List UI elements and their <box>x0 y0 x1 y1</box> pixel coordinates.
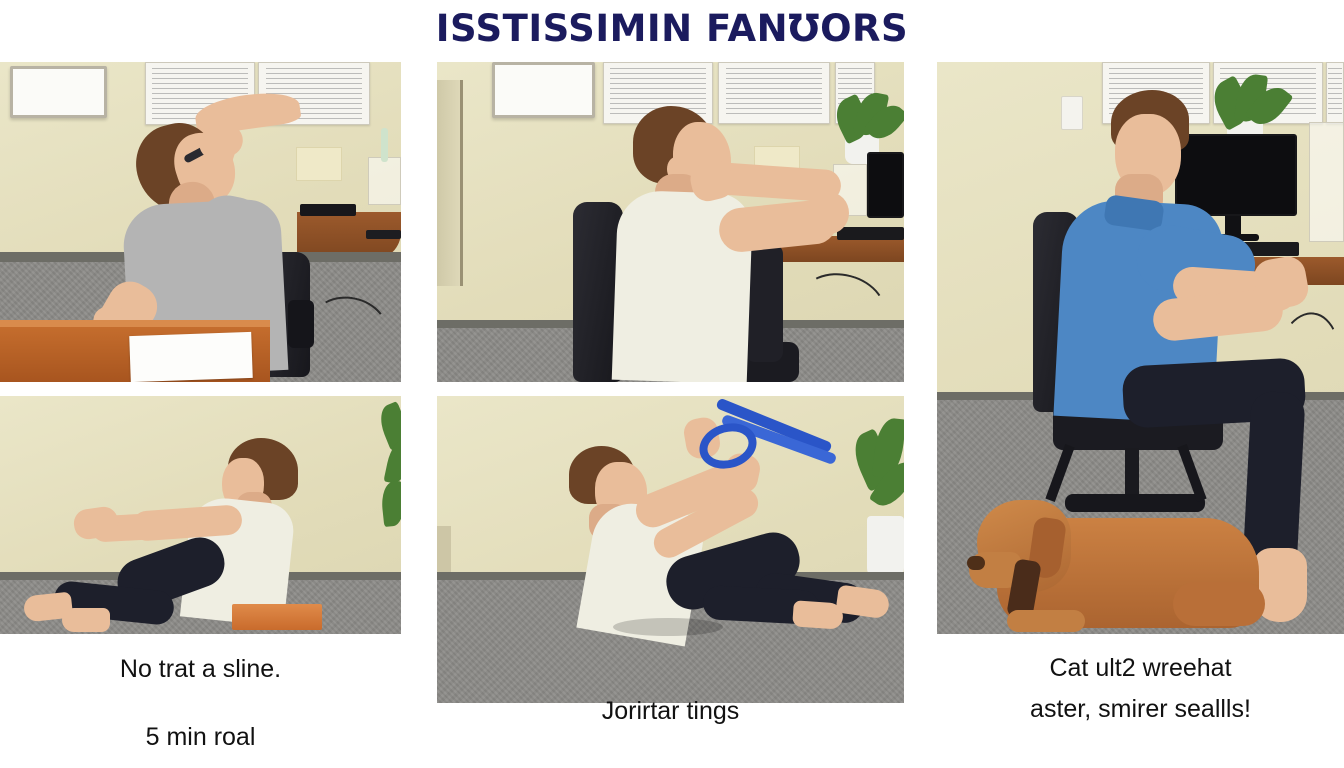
wall-poster-2 <box>718 62 830 124</box>
wall-poster-3 <box>1326 62 1344 124</box>
photo-seated-arms-forward <box>0 396 401 634</box>
panel-top-center <box>437 62 904 382</box>
desk-laptop <box>300 204 356 216</box>
computer-monitor <box>1175 134 1297 216</box>
dog-nose <box>967 556 985 570</box>
panel-bottom-center <box>437 396 904 703</box>
light-switch <box>1061 96 1083 130</box>
chair-base <box>1065 494 1205 512</box>
caption-right-line1: Cat ult2 wreehat <box>937 651 1344 685</box>
desk-keyboard <box>837 227 904 240</box>
desk-front-edge <box>0 320 270 327</box>
side-shelf <box>368 157 401 205</box>
glass-bottle <box>381 128 388 162</box>
chair-post <box>1125 448 1139 500</box>
orange-block <box>232 604 322 630</box>
door-frame <box>437 80 463 286</box>
desk-keyboard <box>366 230 401 239</box>
panel-right-tall <box>937 62 1344 634</box>
desk-papers <box>129 332 253 382</box>
person-bare-foot <box>792 600 844 629</box>
monitor-stand <box>1225 216 1241 236</box>
caption-right-line2: aster, smirer seallls! <box>937 692 1344 726</box>
photo-neck-side-stretch <box>0 62 401 382</box>
photo-seated-resistance-band <box>437 396 904 703</box>
photo-wrist-stretch-with-dog <box>937 62 1344 634</box>
caption-bottom-left-line2: 5 min roal <box>0 720 401 754</box>
photo-shoulder-cross-stretch <box>437 62 904 382</box>
person-elbow <box>809 192 849 234</box>
person-bare-foot <box>62 608 110 632</box>
poster-page: ISSTISSIMIN FANƱORS <box>0 0 1344 768</box>
dog-front-paw <box>1007 610 1085 632</box>
panel-bottom-left <box>0 396 401 634</box>
glass-shelf <box>1309 122 1344 242</box>
dog-hind-leg <box>1173 582 1265 626</box>
caption-bottom-center: Jorirtar tings <box>437 694 904 728</box>
whiteboard <box>492 62 595 118</box>
caption-bottom-left-line1: No trat a sline. <box>0 652 401 686</box>
plant-pot <box>867 516 904 580</box>
computer-monitor <box>867 152 904 218</box>
sticky-note <box>296 147 342 181</box>
panel-top-left <box>0 62 401 382</box>
whiteboard <box>10 66 107 118</box>
poster-header: ISSTISSIMIN FANƱORS <box>0 0 1344 56</box>
page-title: ISSTISSIMIN FANƱORS <box>436 7 908 50</box>
person-seat-shadow <box>613 618 723 636</box>
